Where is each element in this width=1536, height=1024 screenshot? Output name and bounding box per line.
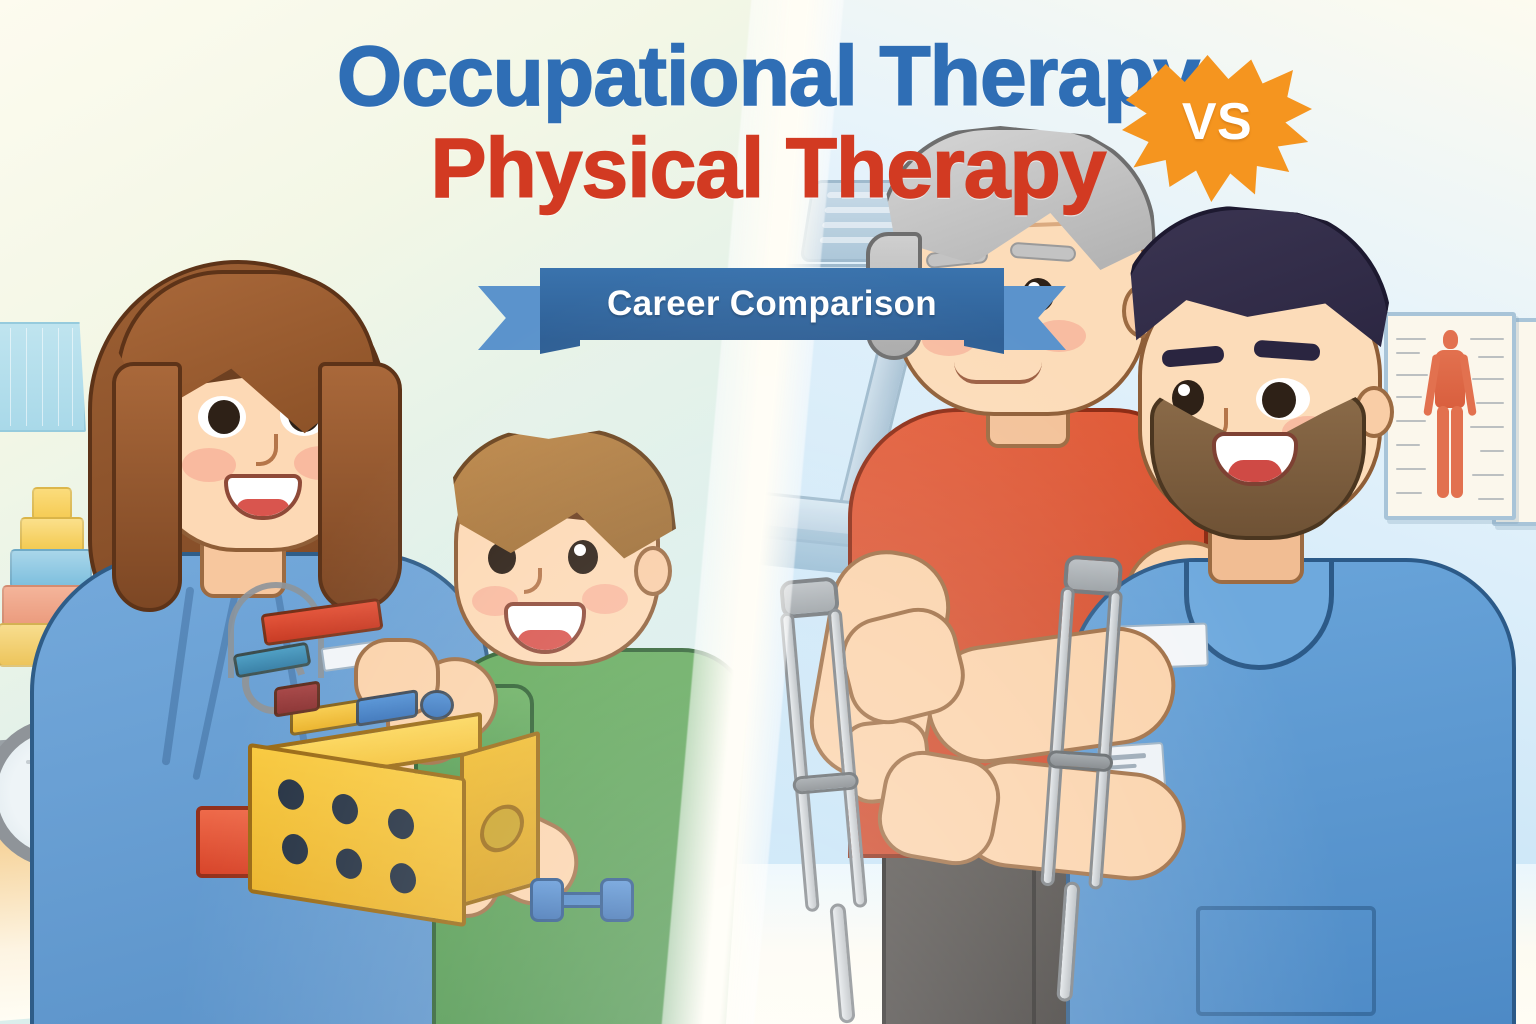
occupational-therapy-scene — [0, 0, 790, 1024]
career-comparison-ribbon: Career Comparison — [478, 268, 1066, 356]
vs-label: VS — [1122, 52, 1312, 202]
blue-disc — [420, 690, 454, 720]
poster-canvas: Occupational Therapy Physical Therapy VS… — [0, 0, 1536, 1024]
physical-therapist-figure — [1076, 206, 1516, 1024]
ribbon-label: Career Comparison — [540, 268, 1004, 340]
therapist-pocket — [1196, 906, 1376, 1016]
therapist-hair-left — [112, 362, 182, 612]
small-dumbbell-toy — [530, 878, 634, 922]
vs-burst-badge: VS — [1122, 52, 1312, 202]
therapist-hair-right — [318, 362, 402, 612]
shape-sorter-toy — [248, 736, 538, 926]
